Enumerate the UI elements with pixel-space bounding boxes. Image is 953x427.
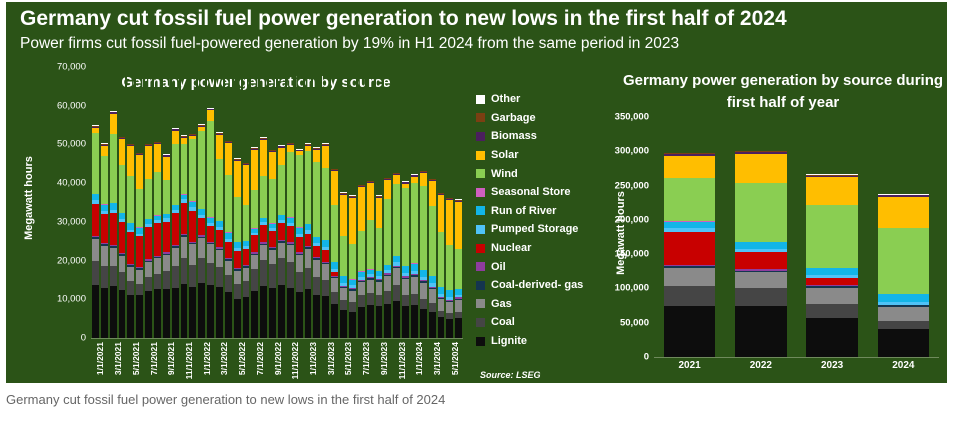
bar[interactable] [878, 117, 929, 357]
bar-segment [305, 151, 312, 224]
bar-segment [251, 150, 258, 190]
legend-item-label: Biomass [491, 130, 537, 142]
legend-item-label: Garbage [491, 112, 536, 124]
bar-segment [251, 190, 258, 228]
legend-item[interactable]: Coal-derived- gas [476, 276, 596, 295]
bar[interactable] [392, 67, 401, 338]
bar[interactable] [348, 67, 357, 338]
bar-segment [878, 294, 929, 301]
bar-segment [101, 214, 108, 243]
left-chart-y-axis-label: Megawatt hours [23, 143, 35, 253]
bar-segment [119, 272, 126, 291]
left-chart: Germany power generation by source Megaw… [6, 62, 476, 382]
bar-segment [878, 307, 929, 321]
legend-item[interactable]: Lignite [476, 332, 596, 351]
x-tick: 2/1/2023 [312, 340, 321, 383]
bar-segment [189, 287, 196, 338]
x-tick: 7/1/2021 [144, 340, 153, 383]
legend-item-label: Solar [491, 149, 519, 161]
bar-segment [296, 255, 303, 272]
bar-segment [287, 288, 294, 338]
bar-segment [376, 282, 383, 295]
bar-segment [198, 238, 205, 258]
x-tick: 5/1/2024 [445, 340, 454, 383]
bar[interactable] [383, 67, 392, 338]
bar-segment [340, 310, 347, 338]
bar-segment [225, 292, 232, 338]
bar-segment [101, 288, 108, 338]
bar-segment [92, 204, 99, 237]
y-tick-label: 0 [597, 352, 649, 363]
x-tick: 8/1/2022 [259, 340, 268, 383]
bar-segment [358, 295, 365, 307]
x-tick: 3/1/2021 [109, 340, 118, 383]
legend-item[interactable]: Pumped Storage [476, 220, 596, 239]
x-tick: 6/1/2023 [348, 340, 357, 383]
bar[interactable] [233, 67, 242, 338]
legend-swatch-icon [476, 206, 485, 215]
bar-segment [172, 288, 179, 338]
legend-item[interactable]: Garbage [476, 109, 596, 128]
chart-panel: Germany cut fossil fuel power generation… [6, 2, 947, 383]
bar-segment [145, 146, 152, 179]
bar[interactable] [91, 67, 100, 338]
bar-segment [340, 288, 347, 300]
bar-segment [127, 146, 134, 176]
x-tick: 4/1/2021 [118, 340, 127, 383]
bar-segment [145, 291, 152, 338]
legend-item[interactable]: Solar [476, 146, 596, 165]
bar-segment [393, 301, 400, 338]
source-attribution: Source: LSEG [480, 370, 541, 380]
bar-segment [136, 189, 143, 227]
x-tick: 12/1/2022 [295, 340, 304, 383]
bar[interactable] [366, 67, 375, 338]
bar[interactable] [197, 67, 206, 338]
x-tick: 1/1/2021 [91, 340, 100, 383]
bar-segment [154, 223, 161, 256]
chart-page: Germany cut fossil fuel power generation… [0, 0, 953, 427]
bar-segment [287, 145, 294, 152]
bar[interactable] [171, 67, 180, 338]
bar-segment [269, 288, 276, 338]
bar-segment [216, 230, 223, 247]
bar-segment [269, 179, 276, 224]
bar-segment [119, 256, 126, 272]
bar-segment [367, 280, 374, 293]
legend-item[interactable]: Coal [476, 313, 596, 332]
legend-swatch-icon [476, 151, 485, 160]
legend-swatch-icon [476, 113, 485, 122]
bar-segment [136, 295, 143, 338]
bar[interactable] [215, 67, 224, 338]
bar-segment [110, 134, 117, 203]
bar-segment [278, 223, 285, 240]
bar-segment [384, 199, 391, 265]
bar-segment [127, 176, 134, 222]
legend-item[interactable]: Biomass [476, 127, 596, 146]
x-tick: 1/1/2022 [197, 340, 206, 383]
bar-segment [376, 306, 383, 338]
bar-segment [145, 277, 152, 291]
bar-segment [278, 165, 285, 215]
right-chart-plot-area: 050,000100,000150,000200,000250,000300,0… [654, 117, 939, 357]
bar-segment [878, 329, 929, 357]
bar-segment [260, 245, 267, 260]
x-tick: 3/1/2022 [215, 340, 224, 383]
bar-segment [322, 146, 329, 168]
bar-segment [438, 299, 445, 311]
bar[interactable] [188, 67, 197, 338]
bar-segment [207, 121, 214, 217]
bar-segment [411, 183, 418, 264]
bar-segment [331, 262, 338, 269]
bar-segment [127, 267, 134, 282]
bar-segment [225, 175, 232, 232]
x-tick: 8/1/2023 [366, 340, 375, 383]
bar[interactable] [180, 67, 189, 338]
bar-segment [384, 304, 391, 338]
bar-segment [172, 144, 179, 204]
legend-swatch-icon [476, 281, 485, 290]
bar-segment [331, 304, 338, 338]
bar-segment [664, 306, 715, 357]
bar-segment [340, 195, 347, 236]
legend-swatch-icon [476, 244, 485, 253]
legend-item[interactable]: Nuclear [476, 239, 596, 258]
bar[interactable] [375, 67, 384, 338]
bar-segment [243, 165, 250, 204]
bar-segment [367, 305, 374, 338]
legend-item[interactable]: Run of River [476, 202, 596, 221]
bar-segment [172, 131, 179, 145]
bar-segment [349, 312, 356, 338]
legend-swatch-icon [476, 337, 485, 346]
bar-segment [243, 297, 250, 338]
x-tick: 10/1/2022 [277, 340, 286, 383]
bar-segment [305, 249, 312, 268]
bar-segment [207, 285, 214, 338]
bar-segment [243, 268, 250, 281]
bar-segment [322, 240, 329, 247]
bar[interactable] [312, 67, 321, 338]
bar-segment [234, 197, 241, 242]
bar[interactable] [339, 67, 348, 338]
legend-item[interactable]: Oil [476, 257, 596, 276]
right-chart-bars [654, 117, 939, 357]
x-tick-label: 2023 [797, 360, 868, 371]
bar-segment [313, 295, 320, 338]
bar[interactable] [259, 67, 268, 338]
bar-segment [92, 261, 99, 285]
bar-segment [251, 255, 258, 269]
bar[interactable] [445, 67, 454, 338]
legend-item[interactable]: Seasonal Store [476, 183, 596, 202]
bar-segment [878, 321, 929, 329]
right-chart-x-axis-line [654, 357, 939, 358]
bar[interactable] [454, 67, 463, 338]
x-tick: 12/1/2023 [401, 340, 410, 383]
bar-segment [296, 292, 303, 338]
bar-segment [101, 156, 108, 205]
x-tick: 10/1/2023 [383, 340, 392, 383]
x-tick: 11/1/2021 [180, 340, 189, 383]
bar[interactable] [286, 67, 295, 338]
bar-segment [878, 228, 929, 294]
legend-swatch-icon [476, 95, 485, 104]
bar-segment [664, 232, 715, 265]
bar-segment [806, 268, 857, 275]
bar-segment [198, 258, 205, 283]
x-tick: 12/1/2021 [188, 340, 197, 383]
bar-segment [402, 188, 409, 265]
x-tick-label: 2022 [725, 360, 796, 371]
bar-segment [225, 275, 232, 292]
bar-segment [154, 144, 161, 172]
bar[interactable] [277, 67, 286, 338]
bar-segment [420, 173, 427, 186]
legend-swatch-icon [476, 318, 485, 327]
bar-segment [438, 232, 445, 286]
bar[interactable] [224, 67, 233, 338]
bar[interactable] [295, 67, 304, 338]
bar-segment [340, 276, 347, 283]
bar-segment [331, 292, 338, 304]
bar[interactable] [401, 67, 410, 338]
bar[interactable] [806, 117, 857, 357]
x-tick: 1/1/2024 [410, 340, 419, 383]
bar-segment [189, 139, 196, 201]
bar-segment [136, 270, 143, 284]
bar-segment [269, 250, 276, 264]
bar-segment [322, 296, 329, 338]
bar-segment [251, 269, 258, 291]
bar-segment [393, 175, 400, 184]
bar-segment [269, 152, 276, 178]
bar[interactable] [126, 67, 135, 338]
bar-segment [664, 178, 715, 222]
bar-segment [287, 226, 294, 242]
bar[interactable] [428, 67, 437, 338]
bar-segment [234, 299, 241, 338]
bar[interactable] [357, 67, 366, 338]
bar-segment [446, 319, 453, 338]
bar-segment [806, 177, 857, 205]
bar-segment [322, 168, 329, 240]
legend-swatch-icon [476, 225, 485, 234]
bar-segment [189, 265, 196, 287]
bar-segment [145, 227, 152, 260]
bar-segment [127, 232, 134, 264]
legend-swatch-icon [476, 188, 485, 197]
bar-segment [127, 281, 134, 294]
legend-item-label: Nuclear [491, 242, 531, 254]
bar-segment [411, 277, 418, 294]
bar-segment [154, 258, 161, 273]
bar-segment [207, 263, 214, 285]
bar-segment [92, 133, 99, 194]
bar[interactable] [410, 67, 419, 338]
bar-segment [136, 236, 143, 267]
bar-segment [322, 250, 329, 262]
bar-segment [198, 218, 205, 235]
bar-segment [446, 245, 453, 290]
bar[interactable] [162, 67, 171, 338]
bar-segment [92, 285, 99, 338]
y-tick-label: 50,000 [597, 317, 649, 328]
bar-segment [181, 258, 188, 284]
bar-segment [278, 148, 285, 165]
legend-item-label: Other [491, 93, 520, 105]
bar-segment [411, 305, 418, 338]
bar-segment [154, 274, 161, 289]
bar-segment [402, 295, 409, 307]
bar-segment [260, 176, 267, 218]
bar-segment [234, 284, 241, 299]
bar-segment [331, 278, 338, 291]
bar-segment [305, 289, 312, 338]
bar-segment [735, 272, 786, 288]
legend-item-label: Lignite [491, 335, 527, 347]
x-tick: 6/1/2024 [454, 340, 463, 383]
bar[interactable] [250, 67, 259, 338]
right-chart-x-tick-labels: 2021202220232024 [654, 360, 939, 371]
bar[interactable] [321, 67, 330, 338]
bar-segment [172, 266, 179, 288]
bar-segment [438, 317, 445, 338]
bar-segment [420, 299, 427, 309]
bar-segment [163, 271, 170, 289]
bar-segment [420, 186, 427, 270]
legend-swatch-icon [476, 169, 485, 178]
x-tick: 7/1/2022 [250, 340, 259, 383]
y-tick-label: 40,000 [31, 178, 86, 189]
bar[interactable] [153, 67, 162, 338]
bar-segment [313, 150, 320, 162]
bar-segment [163, 255, 170, 271]
bar-segment [296, 237, 303, 252]
bar-segment [420, 283, 427, 298]
legend-item-label: Gas [491, 298, 512, 310]
bar-segment [101, 266, 108, 288]
bar-segment [296, 155, 303, 227]
y-tick-label: 70,000 [31, 62, 86, 73]
bar-segment [420, 309, 427, 338]
bar-segment [402, 266, 409, 273]
bar[interactable] [268, 67, 277, 338]
x-tick: 2/1/2022 [206, 340, 215, 383]
bar[interactable] [118, 67, 127, 338]
bar-segment [172, 248, 179, 267]
bar-segment [172, 213, 179, 246]
bar-segment [119, 165, 126, 213]
bar[interactable] [144, 67, 153, 338]
bar-segment [163, 180, 170, 214]
bar[interactable] [100, 67, 109, 338]
bar-segment [384, 276, 391, 291]
bar-segment [358, 282, 365, 295]
bar-segment [154, 289, 161, 338]
bar-segment [269, 231, 276, 247]
legend-item[interactable]: Wind [476, 164, 596, 183]
legend-item[interactable]: Gas [476, 295, 596, 314]
bar-segment [198, 283, 205, 338]
bar-segment [664, 286, 715, 305]
bar-segment [287, 245, 294, 262]
legend-swatch-icon [476, 132, 485, 141]
bar-segment [402, 306, 409, 338]
bar-segment [110, 266, 117, 286]
x-tick: 4/1/2024 [437, 340, 446, 383]
bar-segment [349, 302, 356, 311]
bar-segment [446, 302, 453, 313]
bar[interactable] [419, 67, 428, 338]
y-tick-label: 250,000 [597, 180, 649, 191]
bar-segment [260, 286, 267, 338]
bar-segment [234, 161, 241, 197]
bar-segment [376, 198, 383, 228]
subheadline: Power firms cut fossil fuel-powered gene… [20, 34, 930, 54]
x-tick: 9/1/2021 [162, 340, 171, 383]
x-tick: 11/1/2022 [286, 340, 295, 383]
bar-segment [216, 250, 223, 267]
bar[interactable] [735, 117, 786, 357]
bar-segment [429, 303, 436, 312]
bar-segment [806, 304, 857, 318]
bar-segment [269, 264, 276, 289]
bar-segment [358, 187, 365, 231]
left-chart-x-tick-labels: 1/1/20212/1/20213/1/20214/1/20215/1/2021… [91, 340, 463, 383]
bar[interactable] [304, 67, 313, 338]
legend-item[interactable]: Other [476, 90, 596, 109]
bar[interactable] [242, 67, 251, 338]
bar[interactable] [109, 67, 118, 338]
bar[interactable] [135, 67, 144, 338]
bar-segment [878, 197, 929, 228]
x-tick: 9/1/2023 [375, 340, 384, 383]
bar-segment [154, 172, 161, 215]
bar-segment [384, 180, 391, 199]
left-chart-x-axis-line [91, 338, 463, 339]
bar-segment [331, 205, 338, 262]
bar-segment [664, 222, 715, 229]
y-tick-label: 300,000 [597, 146, 649, 157]
bar-segment [358, 231, 365, 271]
bar-segment [110, 203, 117, 210]
bar[interactable] [206, 67, 215, 338]
y-tick-label: 60,000 [31, 100, 86, 111]
x-tick-label: 2021 [654, 360, 725, 371]
x-tick: 1/1/2023 [304, 340, 313, 383]
bar-segment [438, 195, 445, 232]
bar-segment [429, 312, 436, 338]
x-tick: 2/1/2021 [100, 340, 109, 383]
bar-segment [429, 276, 436, 283]
bar-segment [296, 272, 303, 292]
left-chart-plot-area: 010,00020,00030,00040,00050,00060,00070,… [91, 67, 463, 338]
bar-segment [216, 159, 223, 221]
bar-segment [243, 205, 250, 241]
bar-segment [181, 203, 188, 234]
x-tick: 9/1/2022 [268, 340, 277, 383]
bar[interactable] [330, 67, 339, 338]
bar[interactable] [664, 117, 715, 357]
legend-swatch-icon [476, 299, 485, 308]
bar-segment [225, 242, 232, 258]
bar[interactable] [437, 67, 446, 338]
x-tick: 3/1/2024 [428, 340, 437, 383]
bar-segment [278, 258, 285, 285]
